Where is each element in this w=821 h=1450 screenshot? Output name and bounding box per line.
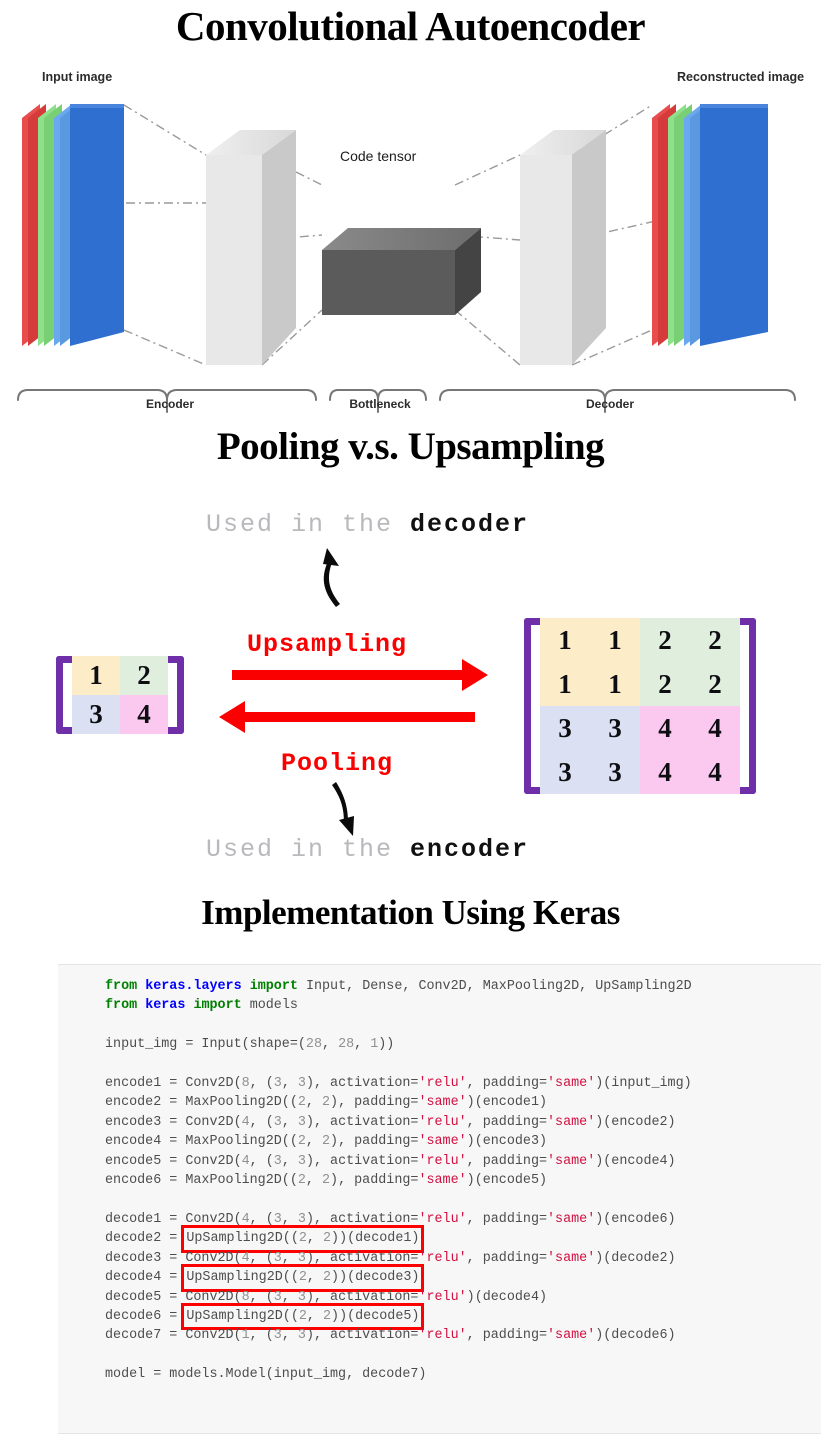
section-title-pooling: Pooling v.s. Upsampling	[0, 424, 821, 469]
code-content: from keras.layers import Input, Dense, C…	[105, 977, 821, 1385]
matrix-cell: 4	[640, 750, 690, 794]
upsampling-arrow-label: Upsampling	[247, 630, 407, 659]
matrix-cell: 2	[640, 662, 690, 706]
matrix-cell: 3	[540, 706, 590, 750]
section-title-implementation: Implementation Using Keras	[0, 893, 821, 933]
matrix-cell: 1	[590, 618, 640, 662]
matrix-cell: 4	[690, 750, 740, 794]
note-used-in-decoder: Used in the decoder	[206, 510, 529, 539]
matrix-cell: 3	[590, 706, 640, 750]
pooling-upsampling-figure: Used in the decoder Used in the encoder …	[0, 490, 821, 890]
matrix-cell: 2	[690, 662, 740, 706]
matrix-cell: 1	[590, 662, 640, 706]
autoencoder-diagram: Input image Reconstructed image Code ten…	[0, 60, 821, 420]
brace-label-decoder: Decoder	[555, 397, 665, 411]
matrix-cell: 2	[690, 618, 740, 662]
brace-label-bottleneck: Bottleneck	[335, 397, 425, 411]
matrix-bracket-left	[524, 618, 540, 794]
matrix-cell: 4	[640, 706, 690, 750]
pooling-arrow	[243, 712, 475, 722]
matrix-cell: 3	[590, 750, 640, 794]
matrix-bracket-right	[168, 656, 184, 734]
matrix-grid-large: 1122112233443344	[540, 618, 740, 794]
matrix-bracket-right	[740, 618, 756, 794]
note-bottom-strong: encoder	[410, 835, 529, 864]
autoencoder-graphic	[0, 60, 821, 420]
note-top-strong: decoder	[410, 510, 529, 539]
upsampling-arrow	[232, 670, 464, 680]
matrix-cell: 4	[690, 706, 740, 750]
note-used-in-encoder: Used in the encoder	[206, 835, 529, 864]
note-bottom-prefix: Used in the	[206, 835, 410, 864]
matrix-cell: 1	[540, 662, 590, 706]
matrix-cell: 4	[120, 695, 168, 734]
note-top-prefix: Used in the	[206, 510, 410, 539]
matrix-cell: 1	[72, 656, 120, 695]
code-block[interactable]: from keras.layers import Input, Dense, C…	[58, 964, 821, 1434]
arrow-head-right-icon	[462, 659, 488, 691]
brace-label-encoder: Encoder	[110, 397, 230, 411]
arrow-head-left-icon	[219, 701, 245, 733]
matrix-bracket-left	[56, 656, 72, 734]
matrix-cell: 3	[72, 695, 120, 734]
matrix-cell: 2	[120, 656, 168, 695]
matrix-cell: 1	[540, 618, 590, 662]
matrix-grid-small: 1234	[72, 656, 168, 734]
input-matrix-2x2: 1234	[72, 656, 168, 734]
output-matrix-4x4: 1122112233443344	[540, 618, 740, 794]
matrix-cell: 2	[640, 618, 690, 662]
page-title: Convolutional Autoencoder	[0, 2, 821, 50]
matrix-cell: 3	[540, 750, 590, 794]
pooling-arrow-label: Pooling	[281, 749, 393, 778]
slide-page: Convolutional Autoencoder Input image Re…	[0, 0, 821, 1450]
